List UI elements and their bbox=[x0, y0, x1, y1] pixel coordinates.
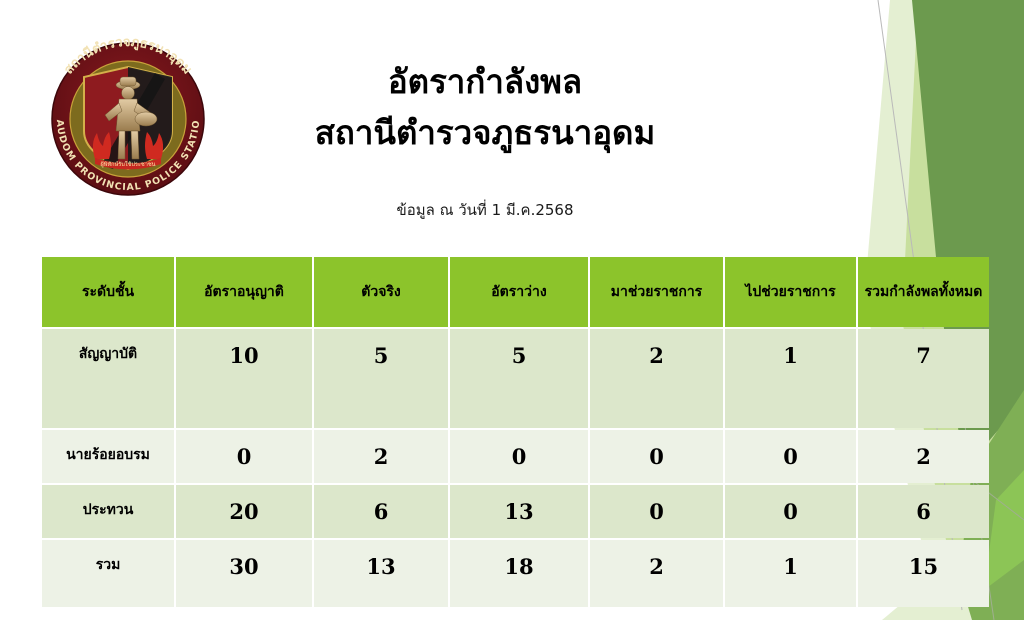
police-station-logo: ผู้พิทักษ์รับใช้ประชาชน สถานีตำรวจภูธรนา… bbox=[33, 27, 223, 199]
column-header-rank: ระดับชั้น bbox=[42, 257, 174, 327]
table-row: ประทวน 20 6 13 0 0 6 bbox=[42, 485, 989, 538]
cell-vacant: 18 bbox=[450, 540, 588, 607]
cell-incoming-help: 2 bbox=[590, 540, 723, 607]
logo-motto-text: ผู้พิทักษ์รับใช้ประชาชน bbox=[101, 160, 156, 168]
cell-authorized: 20 bbox=[176, 485, 312, 538]
title-line-2: สถานีตำรวจภูธรนาอุดม bbox=[225, 107, 745, 158]
cell-vacant: 0 bbox=[450, 430, 588, 483]
cell-total: 6 bbox=[858, 485, 989, 538]
row-label-commissioned: สัญญาบัติ bbox=[42, 329, 174, 428]
cell-authorized: 10 bbox=[176, 329, 312, 428]
cell-incoming-help: 0 bbox=[590, 485, 723, 538]
row-label-cadet-training: นายร้อยอบรม bbox=[42, 430, 174, 483]
roster-table-container: ระดับชั้น อัตราอนุญาติ ตัวจริง อัตราว่าง… bbox=[40, 255, 975, 609]
table-header-row: ระดับชั้น อัตราอนุญาติ ตัวจริง อัตราว่าง… bbox=[42, 257, 989, 327]
cell-total: 7 bbox=[858, 329, 989, 428]
cell-actual: 2 bbox=[314, 430, 448, 483]
slide-canvas: ผู้พิทักษ์รับใช้ประชาชน สถานีตำรวจภูธรนา… bbox=[0, 0, 1024, 620]
cell-actual: 5 bbox=[314, 329, 448, 428]
cell-outgoing-help: 0 bbox=[725, 430, 856, 483]
cell-authorized: 0 bbox=[176, 430, 312, 483]
column-header-actual: ตัวจริง bbox=[314, 257, 448, 327]
column-header-total: รวมกำลังพลทั้งหมด bbox=[858, 257, 989, 327]
cell-outgoing-help: 1 bbox=[725, 329, 856, 428]
cell-authorized: 30 bbox=[176, 540, 312, 607]
cell-outgoing-help: 1 bbox=[725, 540, 856, 607]
cell-vacant: 5 bbox=[450, 329, 588, 428]
cell-total: 15 bbox=[858, 540, 989, 607]
cell-outgoing-help: 0 bbox=[725, 485, 856, 538]
cell-actual: 6 bbox=[314, 485, 448, 538]
table-row: นายร้อยอบรม 0 2 0 0 0 2 bbox=[42, 430, 989, 483]
column-header-vacant: อัตราว่าง bbox=[450, 257, 588, 327]
table-row-total: รวม 30 13 18 2 1 15 bbox=[42, 540, 989, 607]
column-header-incoming-help: มาช่วยราชการ bbox=[590, 257, 723, 327]
column-header-outgoing-help: ไปช่วยราชการ bbox=[725, 257, 856, 327]
cell-vacant: 13 bbox=[450, 485, 588, 538]
cell-total: 2 bbox=[858, 430, 989, 483]
cell-incoming-help: 0 bbox=[590, 430, 723, 483]
subtitle-date: ข้อมูล ณ วันที่ 1 มี.ค.2568 bbox=[225, 198, 745, 222]
roster-table: ระดับชั้น อัตราอนุญาติ ตัวจริง อัตราว่าง… bbox=[40, 255, 991, 609]
table-row: สัญญาบัติ 10 5 5 2 1 7 bbox=[42, 329, 989, 428]
row-label-total: รวม bbox=[42, 540, 174, 607]
page-title: อัตรากำลังพล สถานีตำรวจภูธรนาอุดม bbox=[225, 56, 745, 158]
title-line-1: อัตรากำลังพล bbox=[225, 56, 745, 107]
row-label-noncommissioned: ประทวน bbox=[42, 485, 174, 538]
cell-incoming-help: 2 bbox=[590, 329, 723, 428]
column-header-authorized: อัตราอนุญาติ bbox=[176, 257, 312, 327]
cell-actual: 13 bbox=[314, 540, 448, 607]
